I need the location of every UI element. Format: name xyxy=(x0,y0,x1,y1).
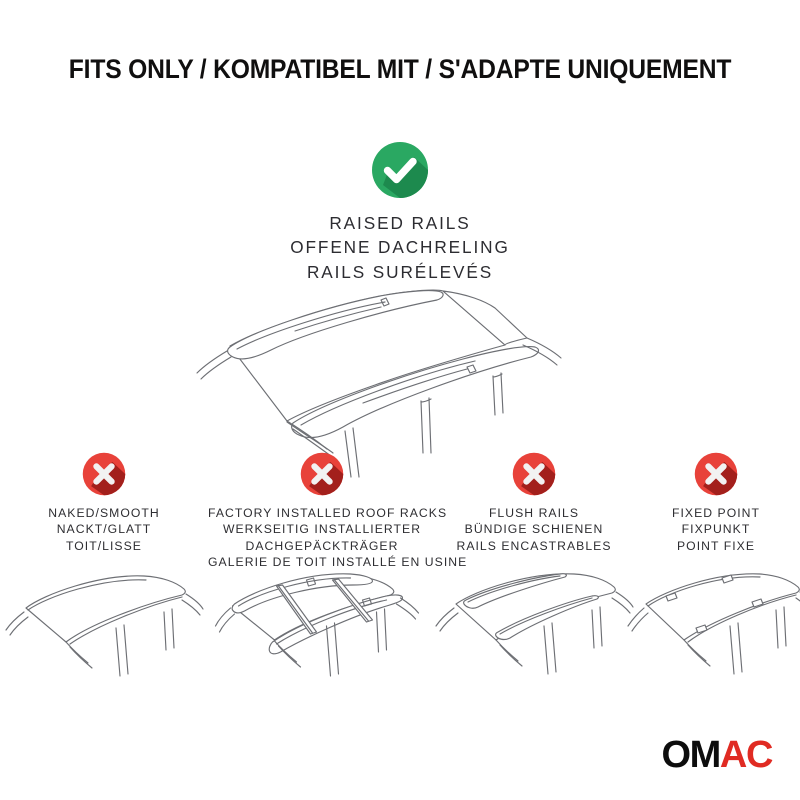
label-de: FIXPUNKT xyxy=(632,521,800,537)
roof-drawing-svg xyxy=(4,552,204,682)
check-circle-icon xyxy=(371,141,429,199)
approved-label-fr: RAILS SURÉLEVÉS xyxy=(0,260,800,284)
roof-drawing-svg xyxy=(215,556,430,684)
incompatible-labels: FLUSH RAILS BÜNDIGE SCHIENEN RAILS ENCAS… xyxy=(436,505,632,554)
incompatible-item-fixed-point: FIXED POINT FIXPUNKT POINT FIXE xyxy=(632,452,800,702)
label-fr: POINT FIXE xyxy=(632,538,800,554)
label-en: FLUSH RAILS xyxy=(436,505,632,521)
incompatible-labels: FIXED POINT FIXPUNKT POINT FIXE xyxy=(632,505,800,554)
page-title-text: FITS ONLY / KOMPATIBEL MIT / S'ADAPTE UN… xyxy=(28,54,772,85)
roof-drawing-svg xyxy=(434,552,634,682)
page-title: FITS ONLY / KOMPATIBEL MIT / S'ADAPTE UN… xyxy=(0,54,800,85)
logo-text-accent: AC xyxy=(720,734,772,776)
x-circle-icon xyxy=(82,452,126,496)
label-en: FIXED POINT xyxy=(632,505,800,521)
label-de-1: WERKSEITIG INSTALLIERTER xyxy=(208,521,436,537)
approved-label-de: OFFENE DACHRELING xyxy=(0,235,800,259)
approved-label-en: RAISED RAILS xyxy=(0,211,800,235)
x-circle-icon xyxy=(694,452,738,496)
roof-drawing-svg xyxy=(626,552,800,682)
approved-section: RAISED RAILS OFFENE DACHRELING RAILS SUR… xyxy=(0,141,800,284)
label-en: NAKED/SMOOTH xyxy=(0,505,208,521)
x-circle-icon xyxy=(300,452,344,496)
label-de: BÜNDIGE SCHIENEN xyxy=(436,521,632,537)
raised-rails-roof-illustration xyxy=(0,281,800,481)
incompatible-labels: FACTORY INSTALLED ROOF RACKS WERKSEITIG … xyxy=(208,505,436,570)
incompatible-item-flush-rails: FLUSH RAILS BÜNDIGE SCHIENEN RAILS ENCAS… xyxy=(436,452,632,702)
factory-roof-rack-illustration xyxy=(215,556,430,689)
label-de: NACKT/GLATT xyxy=(0,521,208,537)
incompatible-section: NAKED/SMOOTH NACKT/GLATT TOIT/LISSE xyxy=(0,452,800,702)
label-de-2: DACHGEPÄCKTRÄGER xyxy=(208,538,436,554)
roof-drawing-svg xyxy=(175,281,625,481)
x-circle-icon xyxy=(512,452,556,496)
naked-smooth-roof-illustration xyxy=(4,552,204,687)
incompatible-item-factory-rack: FACTORY INSTALLED ROOF RACKS WERKSEITIG … xyxy=(208,452,436,702)
label-fr: RAILS ENCASTRABLES xyxy=(436,538,632,554)
label-fr: GALERIE DE TOIT INSTALLÉ EN USINE xyxy=(208,554,436,570)
label-en: FACTORY INSTALLED ROOF RACKS xyxy=(208,505,436,521)
incompatible-item-naked-smooth: NAKED/SMOOTH NACKT/GLATT TOIT/LISSE xyxy=(0,452,208,702)
omac-logo: OMAC xyxy=(661,736,772,774)
incompatible-labels: NAKED/SMOOTH NACKT/GLATT TOIT/LISSE xyxy=(0,505,208,554)
fixed-point-roof-illustration xyxy=(626,552,800,687)
logo-text-dark: OM xyxy=(661,734,719,776)
flush-rails-roof-illustration xyxy=(434,552,634,687)
label-fr: TOIT/LISSE xyxy=(0,538,208,554)
approved-labels: RAISED RAILS OFFENE DACHRELING RAILS SUR… xyxy=(0,211,800,284)
